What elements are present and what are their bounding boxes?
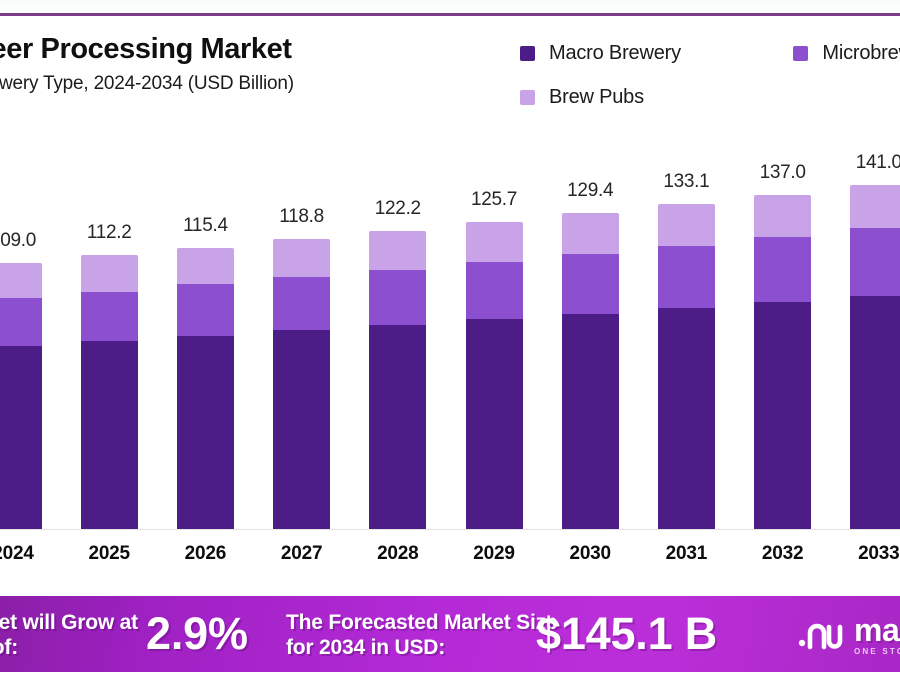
x-tick-label: 2032: [743, 543, 823, 565]
forecast-label: The Forecasted Market Size for 2034 in U…: [286, 610, 566, 660]
legend-item-macro-brewery[interactable]: Macro Brewery: [520, 42, 793, 65]
legend-item-microbrewery[interactable]: Microbrewery: [793, 42, 900, 65]
bar-segment[interactable]: [562, 213, 619, 253]
brand-logo[interactable]: mar ONE STOP: [798, 614, 900, 658]
bar-segment[interactable]: [754, 237, 811, 302]
bar-group[interactable]: 129.4: [562, 213, 619, 530]
bar-segment[interactable]: [273, 277, 330, 330]
logo-name: mar: [854, 616, 900, 644]
bar-segment[interactable]: [658, 246, 715, 308]
bar-chart-plot-area: 109.0112.2115.4118.8122.2125.7129.4133.1…: [0, 130, 900, 530]
footer-content: The Market will Grow at a CAGR of: 2.9% …: [0, 596, 900, 672]
cagr-label: The Market will Grow at a CAGR of:: [0, 610, 138, 660]
chart-legend: Macro Brewery Microbrewery Brew Pubs: [520, 42, 900, 109]
logo-wordmark: mar ONE STOP: [854, 616, 900, 656]
bar-segment[interactable]: [0, 298, 42, 345]
bar-segment[interactable]: [658, 308, 715, 530]
top-gradient-strip: [0, 0, 900, 13]
bar-segment[interactable]: [850, 185, 900, 228]
bar-group[interactable]: 115.4: [177, 248, 234, 530]
bar-total-label: 109.0: [0, 230, 36, 252]
bar-total-label: 129.4: [567, 180, 613, 202]
title-block: Beer Processing Market Brewery Type, 202…: [0, 34, 470, 95]
logo-tagline: ONE STOP: [854, 647, 900, 656]
bar-segment[interactable]: [562, 254, 619, 314]
bar-group[interactable]: 109.0: [0, 263, 42, 530]
bar-segment[interactable]: [754, 302, 811, 530]
bar-group[interactable]: 125.7: [466, 222, 523, 530]
x-tick-label: 2033: [839, 543, 900, 565]
bar-total-label: 112.2: [87, 222, 132, 244]
bar-segment[interactable]: [0, 346, 42, 530]
bar-segment[interactable]: [754, 195, 811, 237]
bar-total-label: 125.7: [471, 189, 517, 211]
bar-segment[interactable]: [658, 204, 715, 245]
bar-total-label: 115.4: [183, 215, 228, 237]
bar-segment[interactable]: [369, 325, 426, 530]
legend-item-brew-pubs[interactable]: Brew Pubs: [520, 86, 644, 109]
legend-label: Macro Brewery: [549, 42, 681, 65]
bar-group[interactable]: 112.2: [81, 255, 138, 530]
bar-segment[interactable]: [850, 296, 900, 530]
x-tick-label: 2028: [358, 543, 438, 565]
bar-segment[interactable]: [273, 239, 330, 277]
bar-segment[interactable]: [0, 263, 42, 298]
legend-label: Microbrewery: [822, 42, 900, 65]
page-title: Beer Processing Market: [0, 34, 470, 66]
bar-segment[interactable]: [273, 330, 330, 530]
bar-segment[interactable]: [562, 314, 619, 530]
bar-total-label: 133.1: [663, 171, 709, 193]
x-axis-line: [0, 529, 900, 530]
x-tick-label: 2029: [454, 543, 534, 565]
legend-row-1: Macro Brewery Microbrewery: [520, 42, 900, 65]
bar-segment[interactable]: [369, 231, 426, 270]
bar-total-label: 137.0: [760, 162, 806, 184]
x-tick-label: 2025: [69, 543, 149, 565]
bar-group[interactable]: 137.0: [754, 195, 811, 530]
bar-segment[interactable]: [177, 336, 234, 530]
x-tick-label: 2024: [0, 543, 53, 565]
forecast-value: $145.1 B: [536, 606, 717, 662]
chart-header: Beer Processing Market Brewery Type, 202…: [0, 16, 900, 121]
bar-segment[interactable]: [177, 284, 234, 335]
x-tick-label: 2027: [262, 543, 342, 565]
bar-segment[interactable]: [369, 270, 426, 325]
cagr-value: 2.9%: [146, 606, 248, 662]
bar-segment[interactable]: [81, 341, 138, 530]
bar-segment[interactable]: [177, 248, 234, 285]
bar-segment[interactable]: [466, 319, 523, 530]
bar-total-label: 122.2: [375, 198, 421, 220]
legend-label: Brew Pubs: [549, 86, 644, 109]
footer-banner: The Market will Grow at a CAGR of: 2.9% …: [0, 596, 900, 672]
x-tick-label: 2031: [646, 543, 726, 565]
x-tick-label: 2030: [550, 543, 630, 565]
market-logo-icon: [798, 619, 844, 653]
bar-segment[interactable]: [466, 262, 523, 319]
x-axis-tick-labels: 2024202520262027202820292030203120322033: [0, 543, 900, 573]
chart-subtitle: Brewery Type, 2024-2034 (USD Billion): [0, 73, 470, 95]
bar-segment[interactable]: [81, 255, 138, 291]
legend-row-2: Brew Pubs: [520, 86, 900, 109]
bar-group[interactable]: 141.0: [850, 185, 900, 530]
bar-segment[interactable]: [850, 228, 900, 296]
bar-group[interactable]: 122.2: [369, 231, 426, 530]
legend-swatch-icon: [520, 90, 535, 105]
bar-group[interactable]: 118.8: [273, 239, 330, 530]
bar-total-label: 118.8: [279, 206, 324, 228]
bar-total-label: 141.0: [856, 152, 900, 174]
bar-group[interactable]: 133.1: [658, 204, 715, 530]
bar-segment[interactable]: [466, 222, 523, 262]
legend-swatch-icon: [793, 46, 808, 61]
legend-swatch-icon: [520, 46, 535, 61]
bar-segment[interactable]: [81, 292, 138, 341]
x-tick-label: 2026: [165, 543, 245, 565]
